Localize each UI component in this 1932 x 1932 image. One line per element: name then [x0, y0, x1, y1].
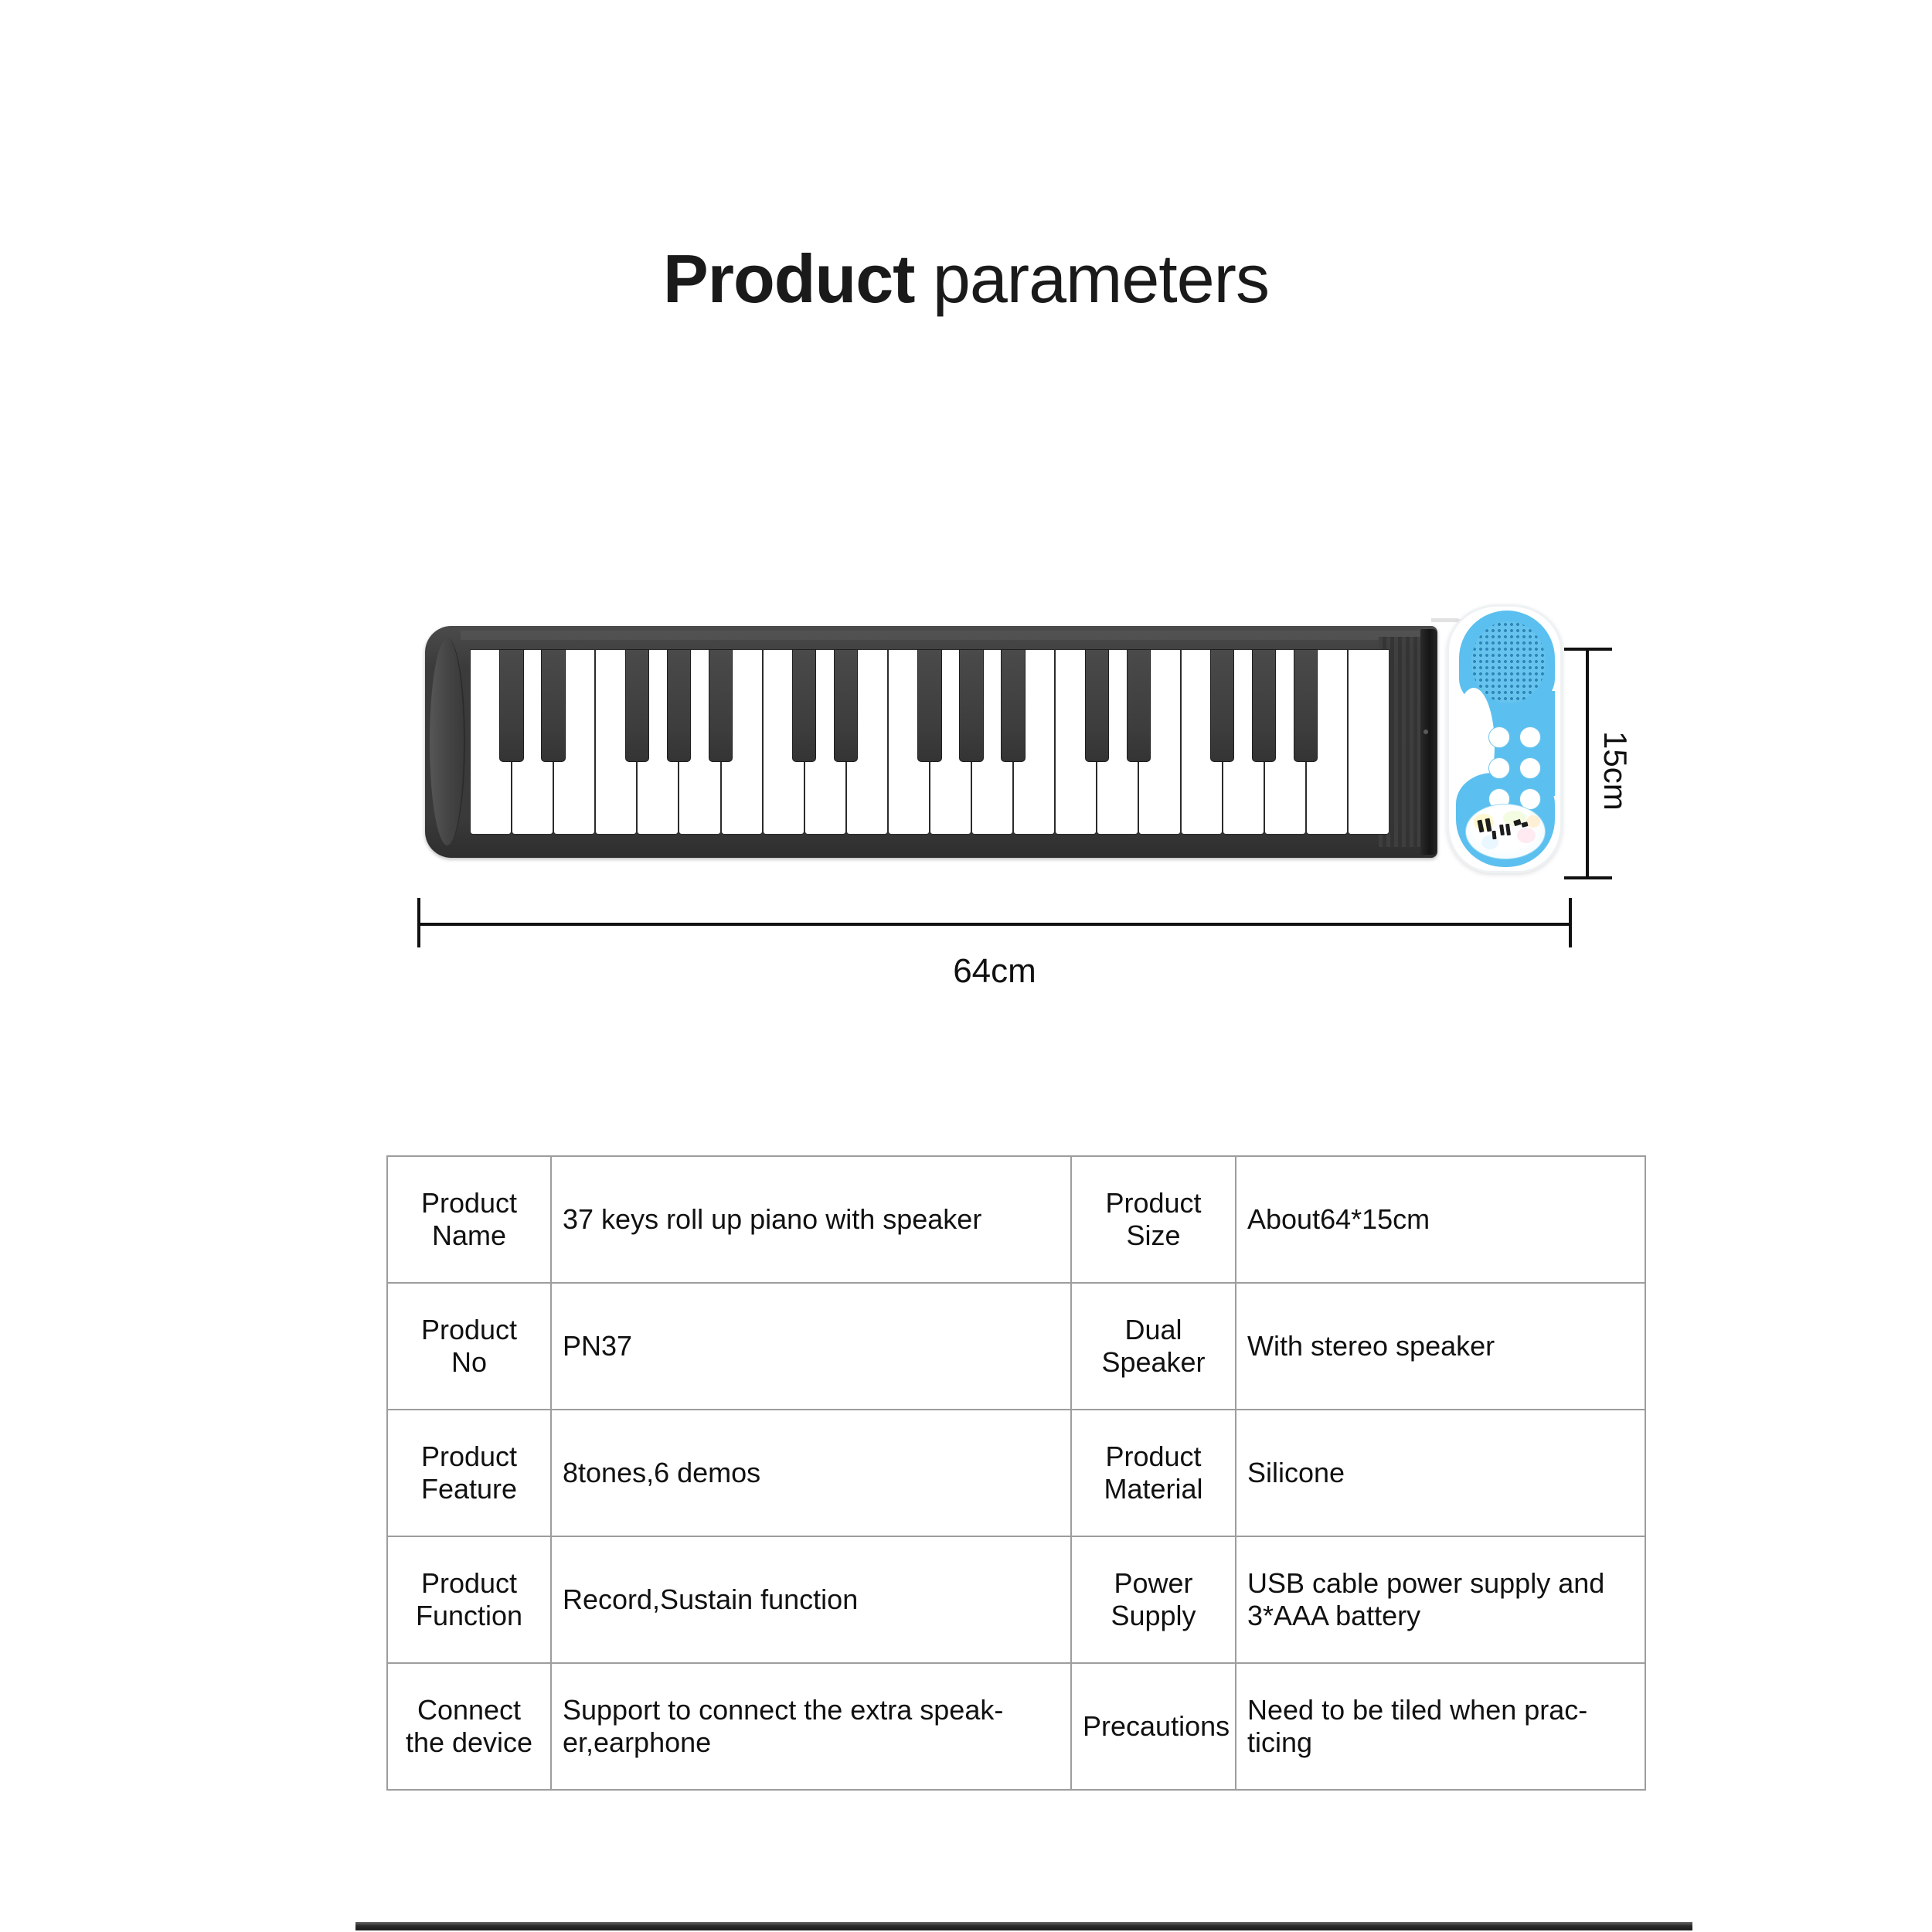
piano-black-key	[1252, 649, 1276, 762]
panel-body	[1454, 611, 1555, 867]
bottom-divider-bar	[355, 1922, 1692, 1930]
sticker-note-mark	[1513, 819, 1522, 826]
panel-round-button[interactable]	[1519, 757, 1541, 779]
row-label-right: Product Size	[1071, 1156, 1236, 1283]
row-value-left: Support to connect the extra speak-er,ea…	[551, 1663, 1071, 1790]
row-value-right: Silicone	[1236, 1410, 1645, 1536]
piano-black-key	[792, 649, 816, 762]
height-dimension: 15cm	[1558, 648, 1651, 879]
piano-keyboard-body	[425, 626, 1437, 858]
row-label-right: Dual Speaker	[1071, 1283, 1236, 1410]
row-value-right: Need to be tiled when prac-ticing	[1236, 1663, 1645, 1790]
piano-white-key	[1348, 649, 1389, 835]
row-label-right: Product Material	[1071, 1410, 1236, 1536]
piano-black-key	[959, 649, 983, 762]
table-row: Product Name37 keys roll up piano with s…	[387, 1156, 1645, 1283]
row-label-left: Connect the device	[387, 1663, 551, 1790]
speaker-grille-icon	[1471, 621, 1546, 703]
sticker-note-mark	[1492, 831, 1496, 839]
width-dimension-label: 64cm	[417, 952, 1572, 991]
page-title: Product parameters	[0, 243, 1932, 315]
panel-round-button[interactable]	[1519, 726, 1541, 748]
row-label-left: Product No	[387, 1283, 551, 1410]
row-label-left: Product Feature	[387, 1410, 551, 1536]
piano-black-key	[541, 649, 565, 762]
height-dimension-label: 15cm	[1597, 731, 1634, 811]
page-title-light: parameters	[914, 240, 1269, 317]
piano-black-key	[709, 649, 733, 762]
keyboard-right-end-cap	[1420, 629, 1437, 855]
panel-side-dot	[1423, 730, 1428, 734]
page-title-strong: Product	[663, 240, 914, 317]
sticker-color-blob	[1517, 828, 1536, 843]
row-label-right: Precautions	[1071, 1663, 1236, 1790]
row-value-left: PN37	[551, 1283, 1071, 1410]
panel-round-button[interactable]	[1488, 726, 1510, 748]
width-dimension: 64cm	[417, 887, 1572, 988]
sticker-note-mark	[1521, 821, 1528, 828]
keyboard-rolled-left-edge	[430, 638, 465, 845]
piano-black-key	[834, 649, 858, 762]
row-value-left: 8tones,6 demos	[551, 1410, 1071, 1536]
panel-label-sticker	[1465, 804, 1546, 859]
row-value-right: With stereo speaker	[1236, 1283, 1645, 1410]
control-button-pad	[1488, 726, 1547, 810]
row-label-left: Product Function	[387, 1536, 551, 1663]
row-value-right: USB cable power supply and 3*AAA battery	[1236, 1536, 1645, 1663]
row-value-right: About64*15cm	[1236, 1156, 1645, 1283]
table-row: Product NoPN37Dual SpeakerWith stereo sp…	[387, 1283, 1645, 1410]
row-value-left: Record,Sustain function	[551, 1536, 1071, 1663]
product-illustration: 15cm 64cm	[402, 587, 1716, 1020]
speaker-control-panel	[1447, 604, 1563, 873]
keyboard-top-bevel	[461, 631, 1431, 640]
height-dimension-line	[1586, 648, 1589, 879]
sticker-note-mark	[1499, 825, 1505, 836]
table-row: Connect the deviceSupport to connect the…	[387, 1663, 1645, 1790]
piano-black-key	[1210, 649, 1234, 762]
piano-keys	[470, 649, 1389, 835]
piano-black-key	[1085, 649, 1109, 762]
panel-round-button[interactable]	[1488, 757, 1510, 779]
piano-black-key	[1001, 649, 1025, 762]
row-label-left: Product Name	[387, 1156, 551, 1283]
width-dimension-line	[417, 923, 1572, 926]
product-parameters-table: Product Name37 keys roll up piano with s…	[386, 1155, 1646, 1791]
piano-black-key	[917, 649, 941, 762]
table-row: Product FunctionRecord,Sustain functionP…	[387, 1536, 1645, 1663]
piano-black-key	[1294, 649, 1318, 762]
sticker-color-blob	[1526, 815, 1540, 828]
piano-black-key	[667, 649, 691, 762]
piano-black-key	[1127, 649, 1151, 762]
row-value-left: 37 keys roll up piano with speaker	[551, 1156, 1071, 1283]
table-row: Product Feature8tones,6 demosProduct Mat…	[387, 1410, 1645, 1536]
row-label-right: Power Supply	[1071, 1536, 1236, 1663]
piano-black-key	[499, 649, 523, 762]
width-dimension-cap-right	[1569, 898, 1572, 947]
piano-black-key	[625, 649, 649, 762]
height-dimension-cap-bottom	[1564, 876, 1612, 879]
